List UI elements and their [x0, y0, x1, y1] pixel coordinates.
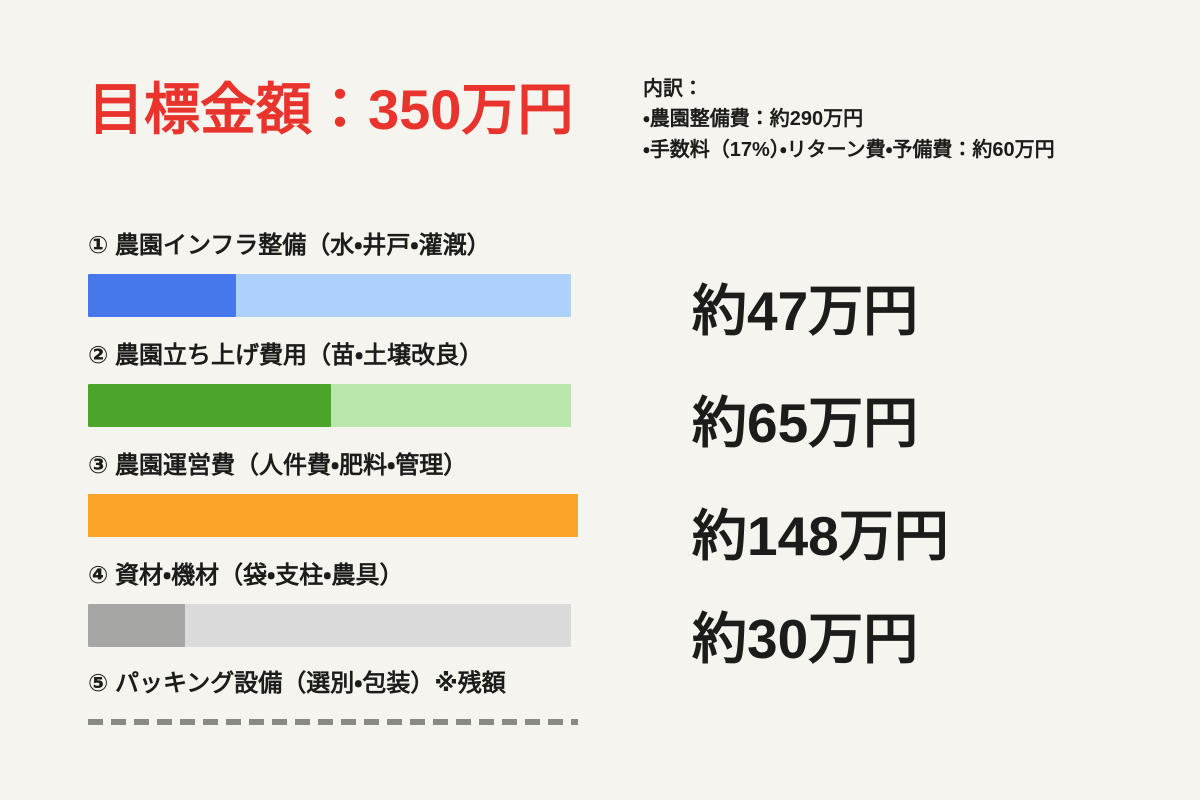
budget-amount-1: 約47万円: [692, 280, 918, 342]
budget-row-label-1: ① 農園インフラ整備（水・井戸・灌漑）: [88, 232, 588, 260]
budget-bar-track-2: [88, 384, 571, 427]
budget-bar-track-4: [88, 604, 571, 647]
budget-bar-fill-1: [88, 274, 236, 317]
budget-bar-fill-4: [88, 604, 185, 647]
breakdown-note: 内訳： ・農園整備費：約290万円 ・手数料（17%）・リターン費・予備費：約6…: [643, 74, 1188, 166]
budget-row-label-3: ③ 農園運営費（人件費・肥料・管理）: [88, 452, 588, 480]
budget-bar-fill-3: [88, 494, 578, 537]
budget-bar-track-3: [88, 494, 578, 537]
budget-row-label-4: ④ 資材・機材（袋・支柱・農具）: [88, 562, 588, 590]
budget-amount-3: 約148万円: [692, 505, 949, 567]
budget-row-1: ① 農園インフラ整備（水・井戸・灌漑）: [88, 232, 588, 317]
budget-row-2: ② 農園立ち上げ費用（苗・土壌改良）: [88, 342, 588, 427]
budget-row-3: ③ 農園運営費（人件費・肥料・管理）: [88, 452, 588, 537]
budget-row-4: ④ 資材・機材（袋・支柱・農具）: [88, 562, 588, 647]
budget-row-label-5: ⑤ パッキング設備（選別・包装）※残額: [88, 670, 588, 698]
budget-row-5: ⑤ パッキング設備（選別・包装）※残額: [88, 670, 588, 725]
infographic-canvas: 目標金額：350万円 内訳： ・農園整備費：約290万円 ・手数料（17%）・リ…: [0, 0, 1200, 800]
budget-bar-track-1: [88, 274, 571, 317]
page-title: 目標金額：350万円: [88, 78, 573, 142]
budget-bar-fill-2: [88, 384, 331, 427]
breakdown-line-1: ・農園整備費：約290万円: [643, 104, 1188, 135]
breakdown-heading: 内訳：: [643, 74, 1188, 104]
budget-amount-2: 約65万円: [692, 392, 918, 454]
breakdown-line-2: ・手数料（17%）・リターン費・予備費：約60万円: [643, 135, 1188, 166]
budget-amount-4: 約30万円: [692, 608, 918, 670]
budget-bar-dashed-5: [88, 719, 578, 725]
budget-row-label-2: ② 農園立ち上げ費用（苗・土壌改良）: [88, 342, 588, 370]
